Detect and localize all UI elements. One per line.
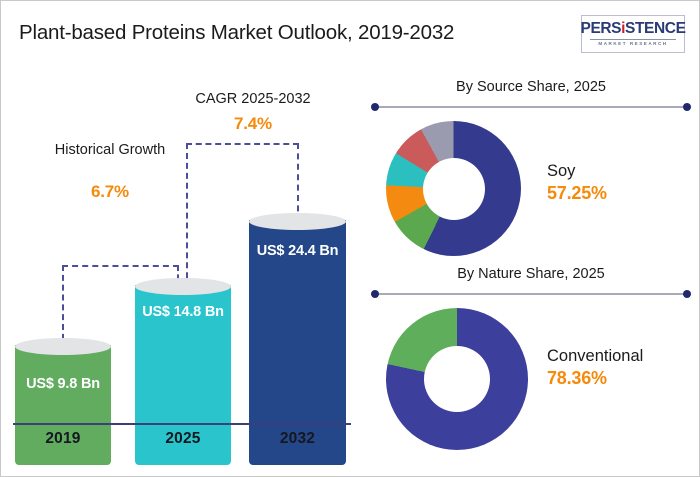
bar-2032-value-label: US$ 24.4 Bn [249, 243, 346, 260]
bar-2032-top-ellipse [249, 213, 346, 230]
bar-2032-category-label: 2032 [249, 430, 346, 448]
logo-wordmark: PERSiSTENCE [581, 21, 686, 37]
source-share-donut[interactable] [386, 121, 521, 256]
nature-share-legend-value: 78.36% [547, 367, 643, 390]
bar-2019: US$ 9.8 Bn [15, 106, 111, 465]
source-share-rule-line [377, 106, 685, 108]
logo-word-pre: PERS [581, 20, 622, 37]
nature-share-rule-dot-right [683, 290, 691, 298]
bar-2025-category-label: 2025 [135, 430, 231, 448]
logo-divider [590, 39, 676, 40]
nature-share-rule [371, 290, 691, 298]
nature-share-donut-hole [424, 346, 490, 412]
bar-2025-value-label: US$ 14.8 Bn [135, 304, 231, 321]
source-share-rule-dot-right [683, 103, 691, 111]
nature-share-legend: Conventional 78.36% [547, 346, 643, 389]
source-share-title: By Source Share, 2025 [371, 79, 691, 95]
source-share-legend-name: Soy [547, 161, 607, 182]
bar-2019-value-label: US$ 9.8 Bn [15, 376, 111, 393]
source-share-legend: Soy 57.25% [547, 161, 607, 204]
bar-2032-cylinder: US$ 24.4 Bn [249, 213, 346, 465]
source-share-section: By Source Share, 2025 Soy 57.25% [371, 79, 691, 259]
source-share-rule-dot-left [371, 103, 379, 111]
infographic-root: Plant-based Proteins Market Outlook, 201… [0, 0, 700, 477]
bar-2032: US$ 24.4 Bn [249, 106, 346, 465]
persistence-market-research-logo: PERSiSTENCE MARKET RESEARCH [581, 15, 685, 53]
bar-2019-category-label: 2019 [15, 430, 111, 448]
nature-share-legend-name: Conventional [547, 346, 643, 367]
bar-2025: US$ 14.8 Bn [135, 106, 231, 465]
logo-subtitle: MARKET RESEARCH [598, 42, 667, 47]
bar-chart: Historical Growth 6.7% CAGR 2025-2032 7.… [1, 65, 363, 465]
nature-share-donut[interactable] [386, 308, 528, 450]
bar-2025-top-ellipse [135, 278, 231, 295]
bar-2019-top-ellipse [15, 338, 111, 355]
nature-share-rule-dot-left [371, 290, 379, 298]
nature-share-rule-line [377, 293, 685, 295]
source-share-rule [371, 103, 691, 111]
nature-share-section: By Nature Share, 2025 Conventional 78.36… [371, 266, 691, 456]
page-title: Plant-based Proteins Market Outlook, 201… [19, 21, 559, 45]
source-share-legend-value: 57.25% [547, 182, 607, 205]
bar-chart-baseline [13, 423, 351, 425]
nature-share-title: By Nature Share, 2025 [371, 266, 691, 282]
source-share-donut-hole [423, 158, 485, 220]
logo-word-post: STENCE [625, 20, 685, 37]
